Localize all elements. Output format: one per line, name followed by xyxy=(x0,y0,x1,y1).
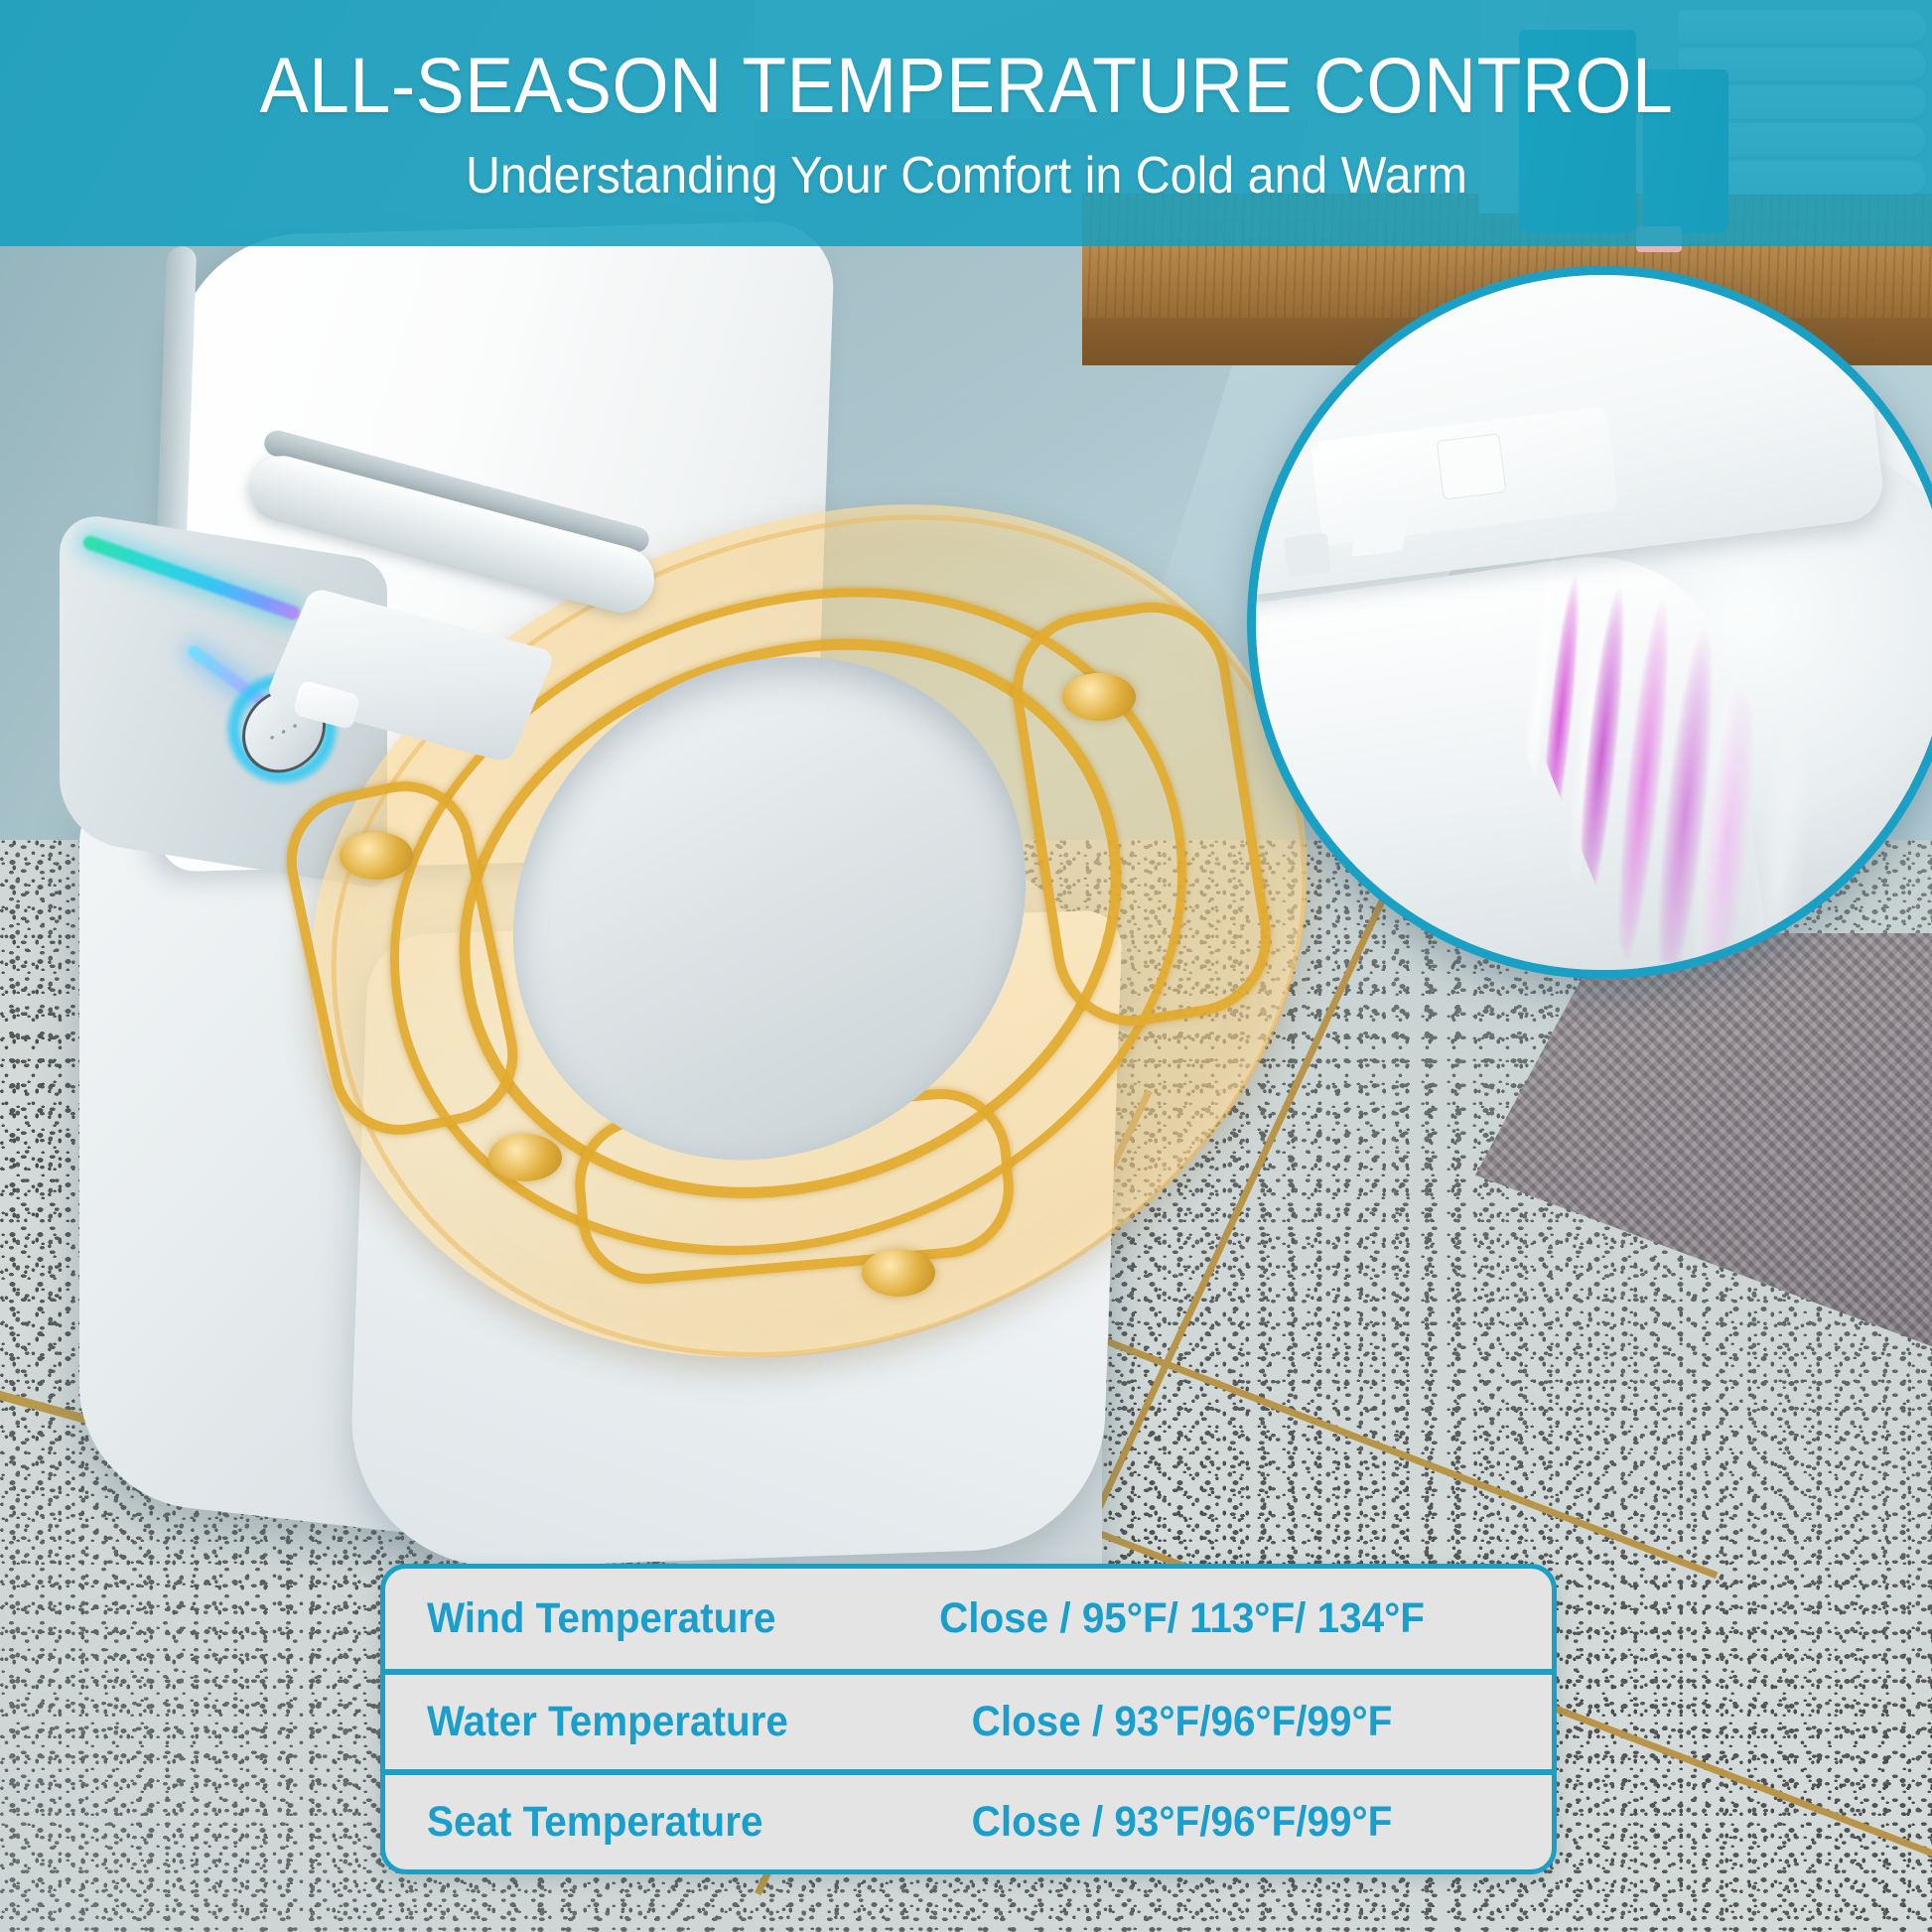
seat-mount-post xyxy=(340,832,413,880)
smart-toilet: • • • xyxy=(60,228,1350,1549)
table-row: Seat Temperature Close / 93°F/96°F/99°F xyxy=(385,1769,1552,1869)
spec-label-water-temperature: Water Temperature xyxy=(427,1698,828,1746)
seat-mount-post xyxy=(488,1134,562,1181)
spec-value-seat-temperature: Close / 93°F/96°F/99°F xyxy=(874,1798,1490,1847)
product-infographic: • • • xyxy=(0,0,1932,1932)
header-banner: ALL-SEASON TEMPERATURE CONTROL Understan… xyxy=(0,0,1932,246)
page-subtitle: Understanding Your Comfort in Cold and W… xyxy=(466,150,1467,202)
spec-label-wind-temperature: Wind Temperature xyxy=(427,1594,828,1643)
callout-panel-button xyxy=(1437,433,1507,499)
temperature-spec-table: Wind Temperature Close / 95°F/ 113°F/ 13… xyxy=(380,1564,1557,1874)
table-row: Wind Temperature Close / 95°F/ 113°F/ 13… xyxy=(385,1569,1552,1669)
air-dryer-callout-circle xyxy=(1247,266,1932,979)
seat-mount-post xyxy=(862,1249,935,1297)
callout-nozzle-vane-secondary xyxy=(1284,532,1332,577)
seat-mount-post xyxy=(1062,673,1136,721)
spec-value-water-temperature: Close / 93°F/96°F/99°F xyxy=(874,1698,1490,1746)
callout-nozzle-vane xyxy=(1351,497,1411,557)
knob-indicator-marks: • • • xyxy=(267,717,301,745)
spec-label-seat-temperature: Seat Temperature xyxy=(427,1798,828,1847)
table-row: Water Temperature Close / 93°F/96°F/99°F xyxy=(385,1669,1552,1769)
page-title: ALL-SEASON TEMPERATURE CONTROL xyxy=(259,46,1673,124)
spec-value-wind-temperature: Close / 95°F/ 113°F/ 134°F xyxy=(874,1594,1490,1643)
